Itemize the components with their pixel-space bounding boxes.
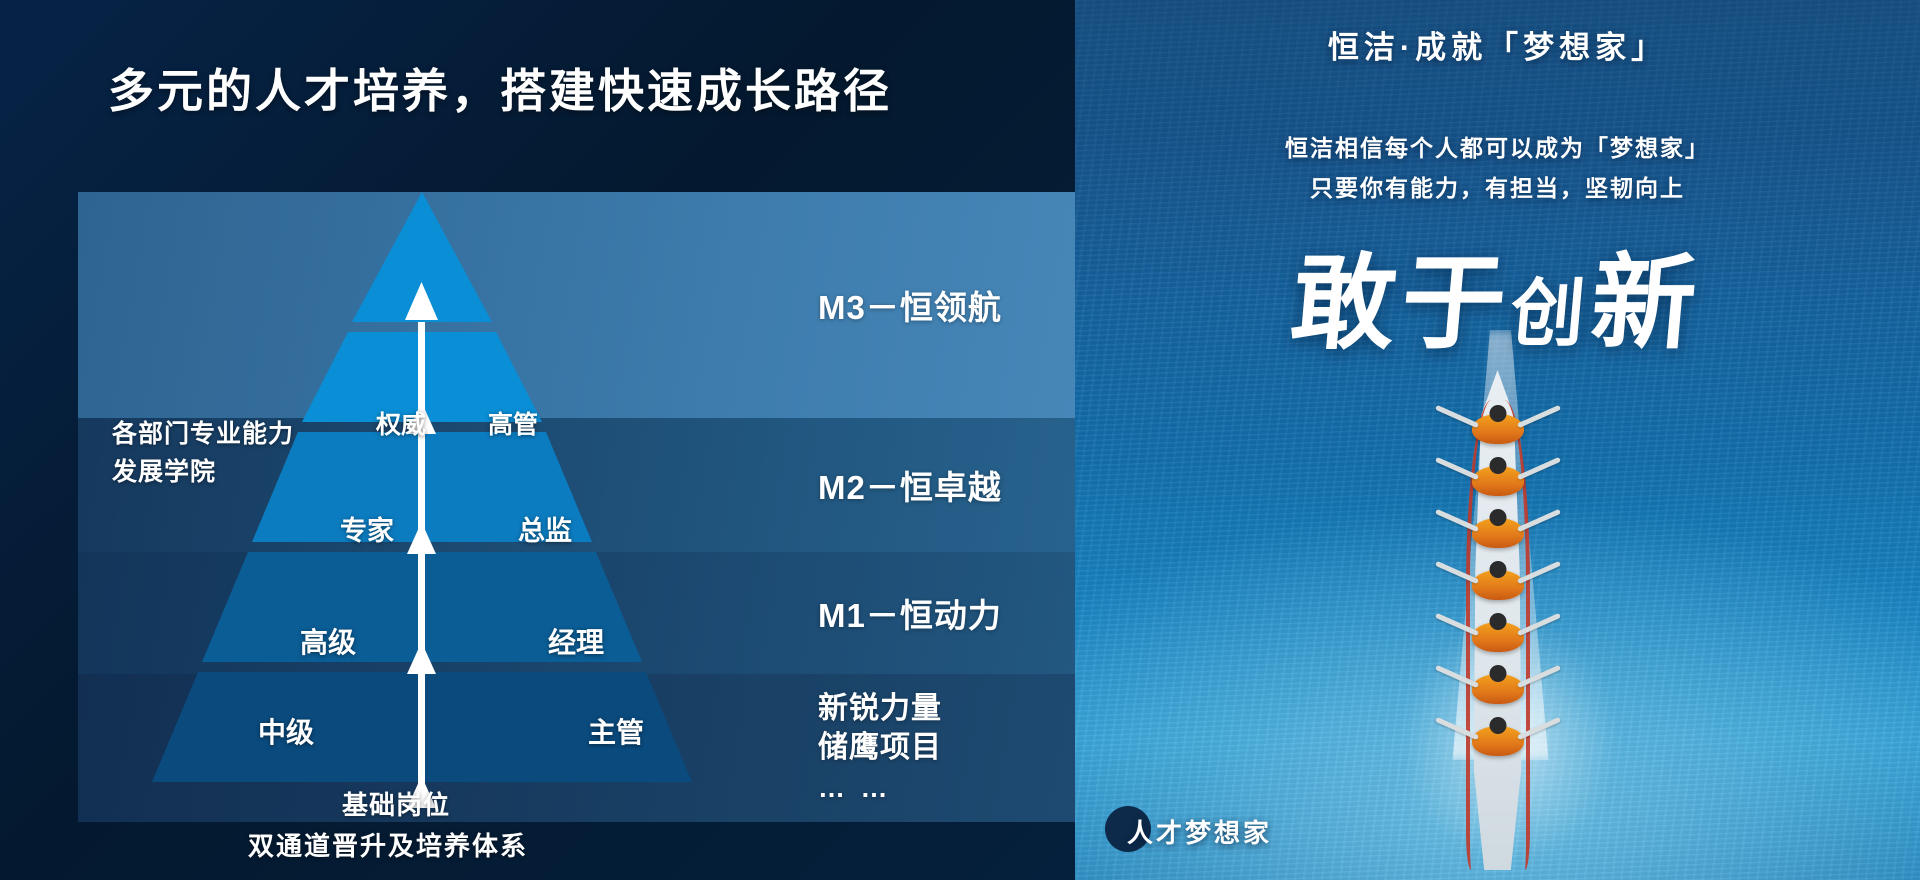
paddler	[1472, 726, 1524, 756]
academy-label: 各部门专业能力 发展学院	[112, 416, 294, 491]
paddler	[1472, 518, 1524, 548]
tier-5-professional-label: 权威	[376, 405, 426, 441]
tier-3-professional-label: 高级	[300, 621, 356, 661]
hero-subtitle-line-1: 恒洁相信每个人都可以成为「梦想家」	[1075, 128, 1920, 168]
band-m3-label: M3－恒领航	[818, 281, 1002, 329]
paddler	[1472, 466, 1524, 496]
base-role-label: 基础岗位	[342, 785, 450, 822]
right-panel: 恒洁·成就「梦想家」 恒洁相信每个人都可以成为「梦想家」 只要你有能力，有担当，…	[1075, 0, 1920, 880]
tier-4-management-label: 总监	[518, 509, 572, 548]
tier-5-management-label: 高管	[488, 405, 538, 441]
left-panel: 多元的人才培养，搭建快速成长路径 M3－恒领航 M2－恒卓越 M1－恒动力 新锐…	[0, 0, 1075, 880]
dragon-boat	[1455, 370, 1541, 870]
band-m1-label: M1－恒动力	[818, 589, 1002, 637]
base-program-line-2: 储鹰项目	[818, 730, 942, 767]
base-program-list: 新锐力量 储鹰项目 … …	[818, 691, 942, 805]
tier-2-professional-label: 中级	[258, 711, 314, 751]
pyramid-diagram: M3－恒领航 M2－恒卓越 M1－恒动力 新锐力量 储鹰项目 … … M0－恒加…	[78, 192, 1075, 822]
badge-label: 人才梦想家	[1127, 813, 1272, 850]
paddler	[1472, 414, 1524, 444]
diagram-caption: 双通道晋升及培养体系	[78, 826, 698, 863]
tier-4-professional-label: 专家	[340, 509, 394, 548]
band-m2-label: M2－恒卓越	[818, 461, 1002, 509]
academy-label-line-1: 各部门专业能力	[112, 416, 294, 454]
hero-title: 恒洁·成就「梦想家」	[1075, 22, 1920, 67]
page-title: 多元的人才培养，搭建快速成长路径	[0, 55, 1000, 121]
hero-subtitle: 恒洁相信每个人都可以成为「梦想家」 只要你有能力，有担当，坚韧向上	[1075, 128, 1920, 209]
calligraphy-part-1: 敢于	[1286, 241, 1517, 364]
base-program-line-1: 新锐力量	[818, 691, 942, 728]
calligraphy-part-3: 新	[1586, 241, 1707, 364]
paddler	[1472, 674, 1524, 704]
tier-3-management-label: 经理	[548, 621, 604, 661]
slide-canvas: 多元的人才培养，搭建快速成长路径 M3－恒领航 M2－恒卓越 M1－恒动力 新锐…	[0, 0, 1920, 880]
paddler	[1472, 570, 1524, 600]
tier-2-management-label: 主管	[588, 711, 644, 751]
paddler	[1472, 622, 1524, 652]
calligraphy-slogan: 敢于创新	[1075, 218, 1920, 369]
base-program-ellipsis: … …	[818, 772, 942, 805]
hero-subtitle-line-2: 只要你有能力，有担当，坚韧向上	[1075, 168, 1920, 208]
calligraphy-part-2: 创	[1507, 271, 1595, 357]
academy-label-line-2: 发展学院	[112, 454, 294, 492]
